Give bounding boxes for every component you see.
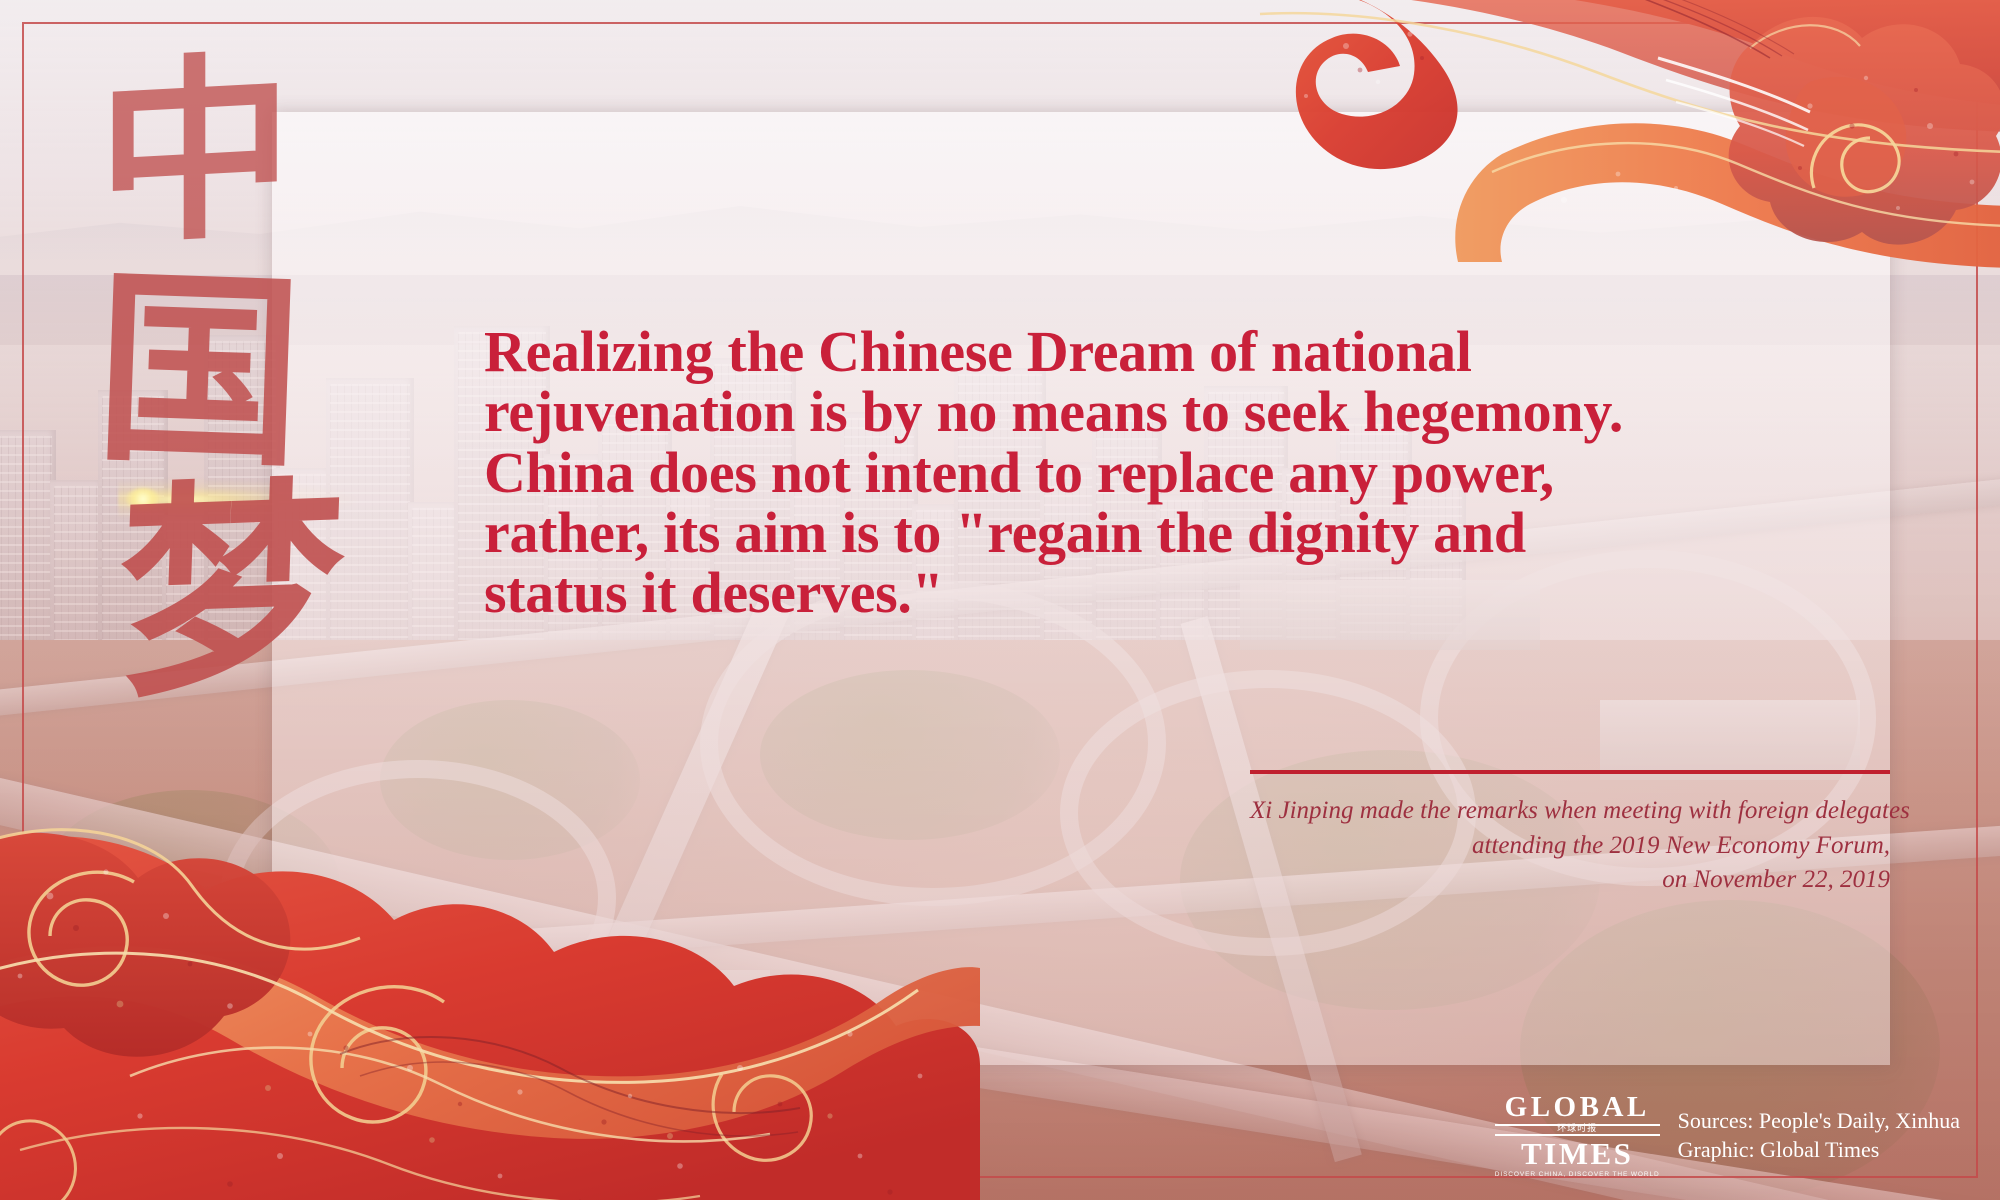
attribution-line-2: attending the 2019 New Economy Forum, — [1250, 829, 1890, 864]
footer: GLOBAL 环球时报 TIMES DISCOVER CHINA, DISCOV… — [1495, 1093, 1960, 1179]
calligraphy-char-meng: 梦 — [112, 476, 350, 710]
logo-chinese-text: 环球时报 — [1553, 1125, 1601, 1134]
quote-line-4: rather, its aim is to "regain the dignit… — [484, 503, 1504, 563]
logo-tagline: DISCOVER CHINA, DISCOVER THE WORLD — [1495, 1172, 1660, 1179]
chinese-dream-calligraphy: 中 国 梦 — [60, 50, 360, 750]
attribution-block: Xi Jinping made the remarks when meeting… — [1250, 770, 1890, 898]
calligraphy-char-zhong: 中 — [80, 48, 310, 256]
attribution-line-3: on November 22, 2019 — [1250, 863, 1890, 898]
attribution-divider — [1250, 770, 1890, 774]
credits-graphic: Graphic: Global Times — [1678, 1135, 1960, 1164]
logo-global-text: GLOBAL — [1495, 1093, 1660, 1122]
global-times-logo: GLOBAL 环球时报 TIMES DISCOVER CHINA, DISCOV… — [1495, 1093, 1660, 1179]
logo-divider: 环球时报 — [1495, 1124, 1660, 1136]
infographic-poster: 中 国 梦 Realizing the Chinese Dream of nat… — [0, 0, 2000, 1200]
quote-line-1: Realizing the Chinese Dream of national — [484, 322, 1504, 382]
quote-text: Realizing the Chinese Dream of national … — [484, 322, 1504, 624]
quote-line-5: status it deserves." — [484, 563, 1504, 623]
calligraphy-char-guo: 国 — [80, 264, 317, 478]
credits-block: Sources: People's Daily, Xinhua Graphic:… — [1678, 1106, 1960, 1165]
quote-line-3: China does not intend to replace any pow… — [484, 443, 1504, 503]
quote-line-2: rejuvenation is by no means to seek hege… — [484, 382, 1504, 442]
logo-times-text: TIMES — [1495, 1138, 1660, 1169]
attribution-line-1: Xi Jinping made the remarks when meeting… — [1250, 794, 1890, 829]
credits-sources: Sources: People's Daily, Xinhua — [1678, 1106, 1960, 1135]
